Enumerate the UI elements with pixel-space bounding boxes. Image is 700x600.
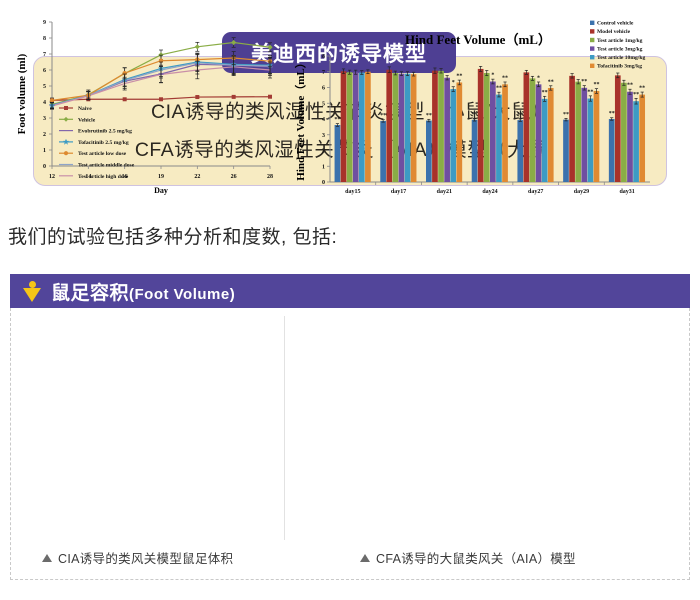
triangle-icon	[360, 554, 370, 562]
svg-text:**: **	[456, 74, 462, 80]
svg-text:4: 4	[322, 117, 325, 123]
svg-text:6: 6	[43, 68, 46, 74]
svg-text:**: **	[627, 83, 633, 89]
svg-text:7: 7	[43, 52, 46, 58]
svg-text:*: *	[452, 80, 455, 86]
svg-text:**: **	[633, 92, 639, 98]
svg-text:Test article 3mg/kg: Test article 3mg/kg	[597, 46, 643, 52]
svg-text:Hind Feet Volume（mL）: Hind Feet Volume（mL）	[294, 57, 307, 180]
svg-text:2: 2	[322, 149, 325, 155]
svg-text:**: **	[581, 79, 587, 85]
svg-text:3: 3	[322, 133, 325, 139]
svg-text:Tofacitinib 3mg/kg: Tofacitinib 3mg/kg	[597, 64, 642, 70]
line-chart-foot-volume: 012345678912141619222628Foot volume (ml)…	[12, 14, 278, 224]
svg-text:**: **	[496, 86, 502, 92]
svg-text:Foot volume (ml): Foot volume (ml)	[16, 53, 28, 134]
svg-text:5: 5	[43, 84, 46, 90]
svg-text:**: **	[517, 112, 523, 118]
svg-text:*: *	[537, 75, 540, 81]
svg-text:Day: Day	[154, 186, 168, 195]
svg-text:**: **	[587, 89, 593, 95]
svg-text:day29: day29	[574, 189, 589, 195]
svg-text:19: 19	[158, 174, 164, 180]
svg-text:22: 22	[194, 174, 200, 180]
svg-text:**: **	[593, 82, 599, 88]
svg-text:**: **	[502, 75, 508, 81]
svg-text:Control vehicle: Control vehicle	[597, 21, 634, 27]
svg-text:3: 3	[43, 116, 46, 122]
svg-text:12: 12	[49, 174, 55, 180]
svg-text:**: **	[472, 112, 478, 118]
svg-text:Vehicle: Vehicle	[78, 117, 96, 123]
svg-text:8: 8	[322, 54, 325, 60]
svg-text:Test article high dose: Test article high dose	[78, 174, 129, 180]
svg-text:**: **	[542, 90, 548, 96]
svg-text:0: 0	[322, 180, 325, 186]
caption-left: CIA诱导的类风关模型鼠足体积	[42, 548, 233, 567]
svg-text:26: 26	[231, 174, 237, 180]
line-chart-svg: 012345678912141619222628Foot volume (ml)…	[12, 14, 278, 224]
svg-text:Hind Feet Volume（mL）: Hind Feet Volume（mL）	[405, 32, 551, 47]
bar-chart-svg: 012345678Hind Feet Volume（mL）Hind Feet V…	[292, 14, 674, 224]
svg-text:**: **	[609, 111, 615, 117]
svg-text:2: 2	[43, 132, 46, 138]
svg-text:9: 9	[43, 20, 46, 26]
svg-text:Naive: Naive	[78, 106, 92, 112]
svg-text:**: **	[334, 117, 340, 123]
intro-text: 我们的试验包括多种分析和度数, 包括:	[8, 222, 337, 249]
svg-text:day21: day21	[437, 189, 452, 195]
bar-chart-hind-feet-volume: 012345678Hind Feet Volume（mL）Hind Feet V…	[292, 14, 674, 224]
svg-text:day17: day17	[391, 189, 406, 195]
svg-text:Test article middle dose: Test article middle dose	[78, 163, 135, 169]
section-title-cn: 鼠足容积	[51, 283, 129, 304]
charts-panel	[10, 308, 690, 580]
svg-text:day31: day31	[619, 189, 634, 195]
section-title: 鼠足容积(Foot Volume)	[51, 278, 235, 305]
svg-text:5: 5	[322, 101, 325, 107]
caption-right: CFA诱导的大鼠类风关（AIA）模型	[360, 548, 576, 567]
svg-text:**: **	[563, 112, 569, 118]
svg-text:Test article low dose: Test article low dose	[78, 151, 127, 157]
svg-text:Test article 1mg/kg: Test article 1mg/kg	[597, 38, 643, 44]
panel-divider	[284, 316, 285, 540]
svg-text:28: 28	[267, 174, 273, 180]
svg-text:Model vehicle: Model vehicle	[597, 29, 631, 35]
svg-text:8: 8	[43, 36, 46, 42]
triangle-icon	[42, 554, 52, 562]
svg-text:Evobrutinib 2.5 mg/kg: Evobrutinib 2.5 mg/kg	[78, 129, 132, 135]
svg-text:4: 4	[43, 100, 46, 106]
svg-text:day15: day15	[345, 189, 360, 195]
foot-drop-icon	[23, 281, 42, 302]
svg-text:**: **	[426, 113, 432, 119]
svg-text:7: 7	[322, 70, 325, 76]
svg-text:day27: day27	[528, 189, 543, 195]
svg-text:Tofacitinib 2.5 mg/kg: Tofacitinib 2.5 mg/kg	[78, 140, 129, 146]
caption-left-text: CIA诱导的类风关模型鼠足体积	[58, 548, 233, 567]
svg-text:**: **	[380, 113, 386, 119]
svg-text:Test article 10mg/kg: Test article 10mg/kg	[597, 55, 645, 61]
section-title-en: (Foot Volume)	[129, 286, 235, 303]
svg-text:**: **	[548, 79, 554, 85]
svg-text:1: 1	[322, 164, 325, 170]
svg-text:**: **	[639, 86, 645, 92]
svg-text:*: *	[491, 73, 494, 79]
svg-text:0: 0	[43, 164, 46, 170]
svg-text:day24: day24	[482, 189, 497, 195]
svg-text:6: 6	[322, 86, 325, 92]
section-header-foot-volume: 鼠足容积(Foot Volume)	[10, 274, 690, 308]
caption-right-text: CFA诱导的大鼠类风关（AIA）模型	[376, 548, 576, 567]
svg-text:1: 1	[43, 148, 46, 154]
